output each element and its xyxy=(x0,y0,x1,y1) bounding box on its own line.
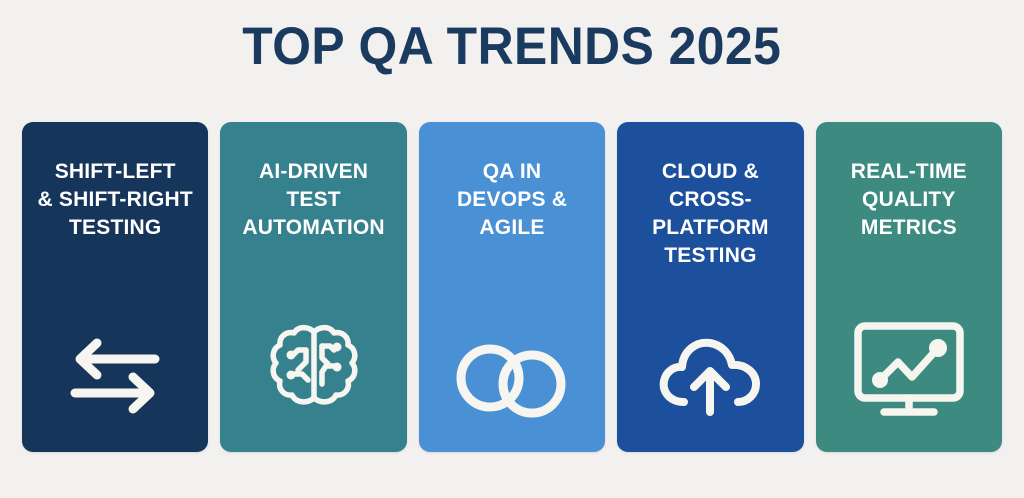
trend-card-ai-driven-test-automation[interactable]: AI-DRIVEN TEST AUTOMATION xyxy=(220,122,406,452)
trend-card-title: REAL-TIME QUALITY METRICS xyxy=(851,158,967,242)
infographic-poster: TOP QA TRENDS 2025 SHIFT-LEFT & SHIFT-RI… xyxy=(0,0,1024,498)
page-title: TOP QA TRENDS 2025 xyxy=(242,20,781,73)
cloud-upload-icon xyxy=(617,332,803,418)
overlapping-circles-icon xyxy=(419,344,605,418)
trend-card-real-time-quality-metrics[interactable]: REAL-TIME QUALITY METRICS xyxy=(816,122,1002,452)
bidirectional-arrows-icon xyxy=(22,334,208,418)
trend-card-qa-devops-agile[interactable]: QA IN DEVOPS & AGILE xyxy=(419,122,605,452)
trend-card-list: SHIFT-LEFT & SHIFT-RIGHT TESTING AI-DRIV… xyxy=(22,122,1002,452)
brain-circuit-icon xyxy=(220,318,406,418)
trend-card-title: SHIFT-LEFT & SHIFT-RIGHT TESTING xyxy=(37,158,192,242)
monitor-chart-icon xyxy=(816,320,1002,418)
trend-card-title: AI-DRIVEN TEST AUTOMATION xyxy=(242,158,384,242)
trend-card-title: QA IN DEVOPS & AGILE xyxy=(457,158,567,242)
trend-card-shift-left-right[interactable]: SHIFT-LEFT & SHIFT-RIGHT TESTING xyxy=(22,122,208,452)
trend-card-title: CLOUD & CROSS- PLATFORM TESTING xyxy=(652,158,769,270)
trend-card-cloud-cross-platform[interactable]: CLOUD & CROSS- PLATFORM TESTING xyxy=(617,122,803,452)
